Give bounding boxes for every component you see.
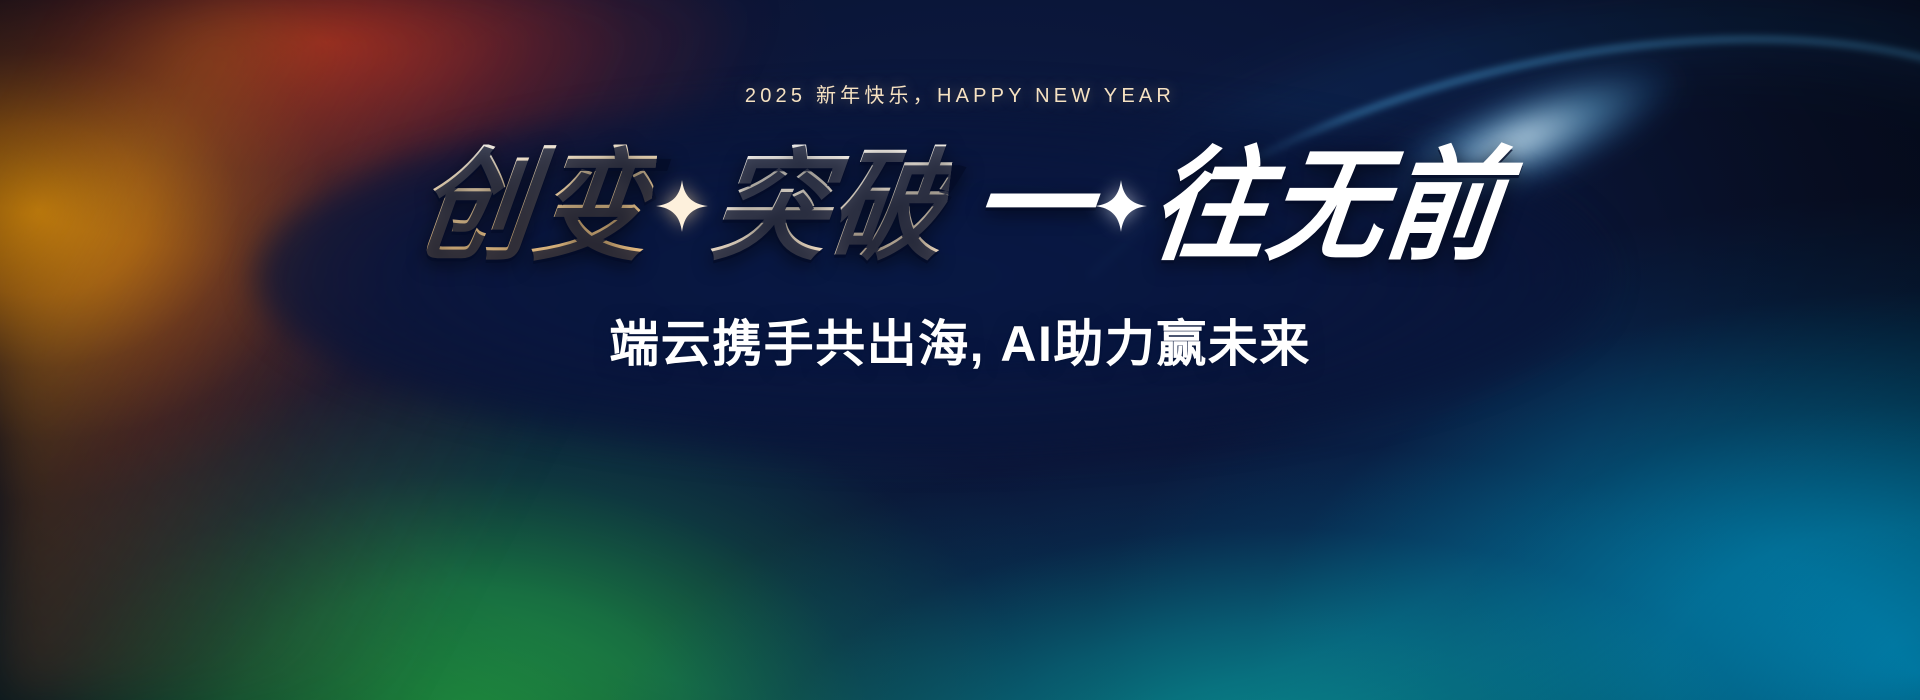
sparkle-icon [651,161,713,251]
headline: 创变 突破 一 往无前 [417,148,1503,264]
subheadline-text: 端云携手共出海, AI助力赢未来 [609,304,1311,376]
sparkle-icon [1090,161,1152,251]
headline-part-4: 往无前 [1144,145,1510,268]
headline-part-2: 突破 [705,145,954,268]
new-year-banner: 2025 新年快乐，HAPPY NEW YEAR 创变 突破 一 往无前 端云携… [0,0,1920,700]
banner-content: 2025 新年快乐，HAPPY NEW YEAR 创变 突破 一 往无前 端云携… [0,0,1920,700]
eyebrow-text: 2025 新年快乐，HAPPY NEW YEAR [745,79,1175,108]
headline-part-1: 创变 [409,145,658,268]
headline-part-3: 一 [965,145,1097,268]
